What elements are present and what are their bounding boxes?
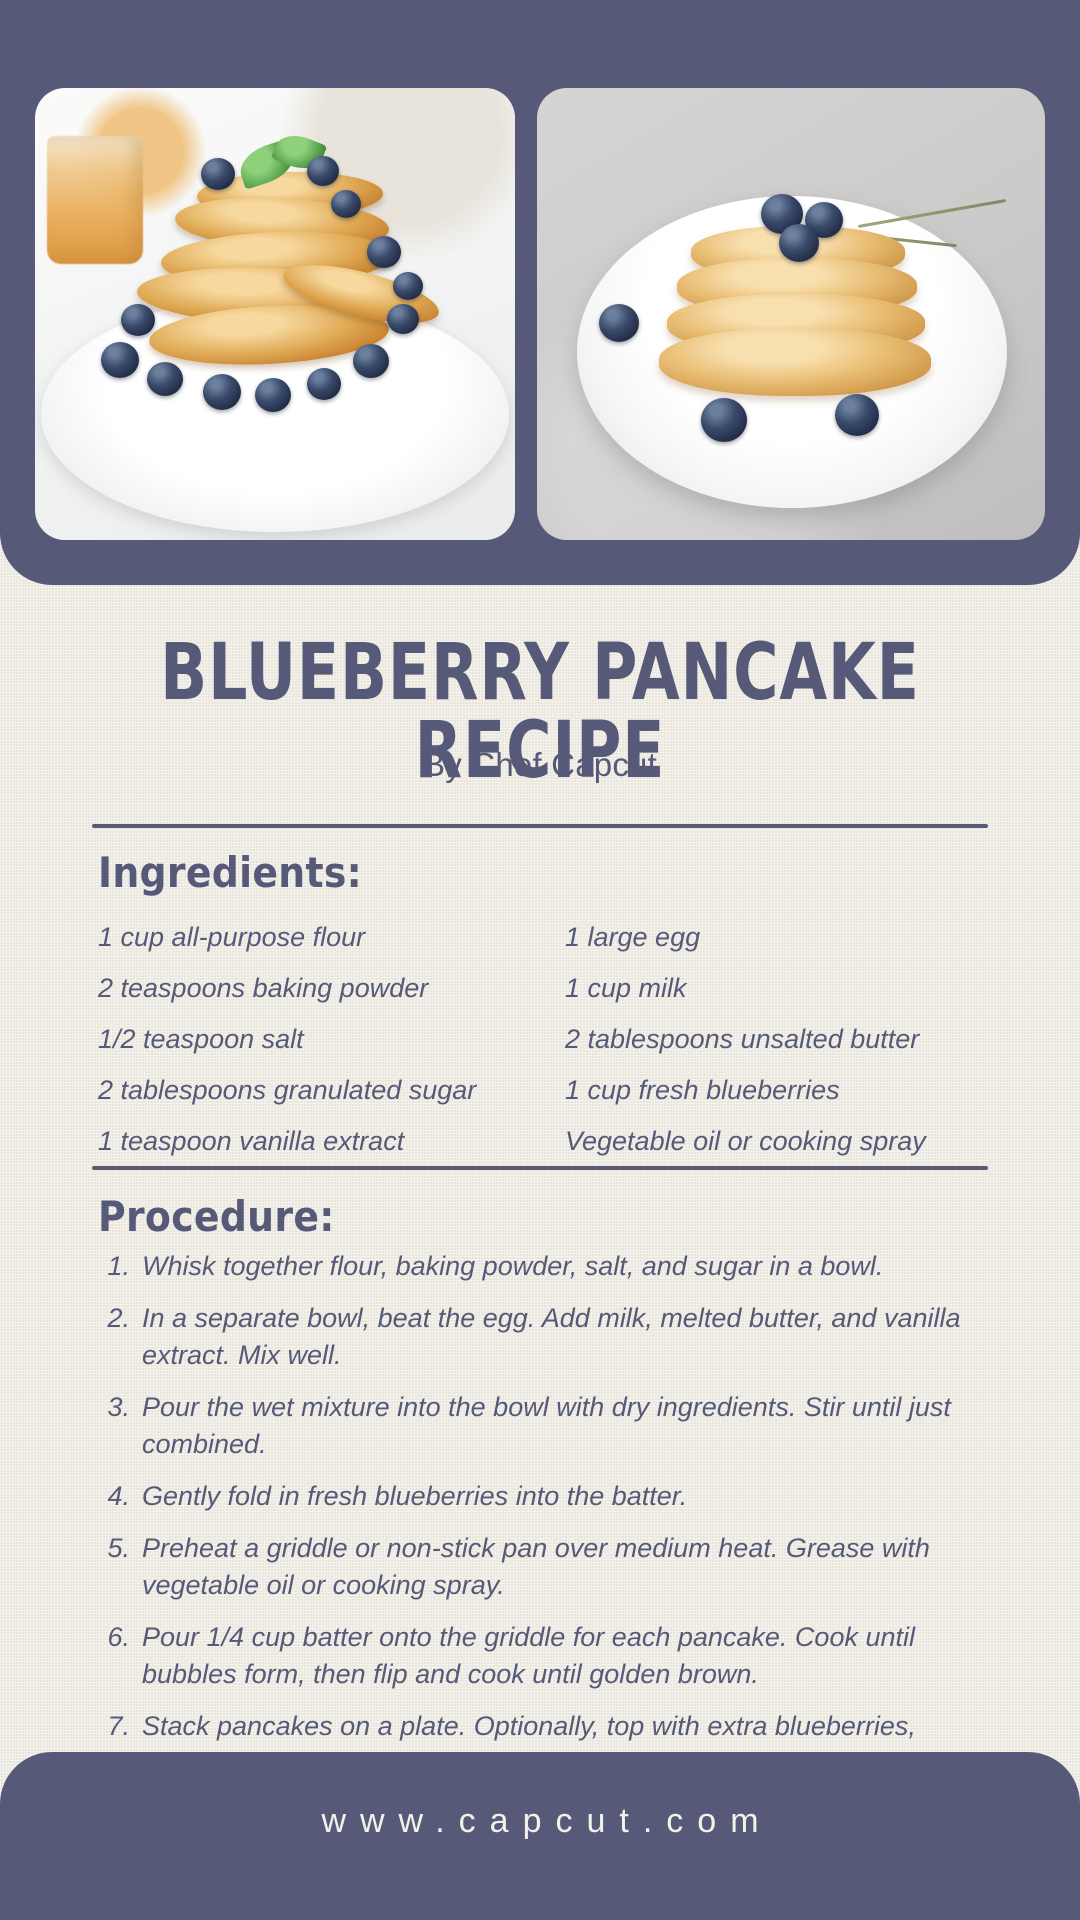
step-text: In a separate bowl, beat the egg. Add mi… bbox=[142, 1300, 962, 1374]
blueberry bbox=[307, 368, 341, 400]
procedure-step: 1. Whisk together flour, baking powder, … bbox=[98, 1248, 998, 1285]
procedure-heading: Procedure: bbox=[98, 1192, 335, 1241]
ingredient-item: 1 large egg bbox=[563, 912, 988, 963]
ingredient-item: 2 teaspoons baking powder bbox=[98, 963, 563, 1014]
ingredient-item: Vegetable oil or cooking spray bbox=[563, 1116, 988, 1167]
blueberry bbox=[101, 342, 139, 378]
blueberry bbox=[307, 156, 339, 186]
blueberry bbox=[147, 362, 183, 396]
ingredient-item: 1 cup milk bbox=[563, 963, 988, 1014]
procedure-step: 4. Gently fold in fresh blueberries into… bbox=[98, 1478, 998, 1515]
ingredients-heading: Ingredients: bbox=[98, 848, 362, 897]
procedure-step: 6. Pour 1/4 cup batter onto the griddle … bbox=[98, 1619, 998, 1693]
pancake-stack bbox=[657, 208, 937, 428]
step-text: Pour 1/4 cup batter onto the griddle for… bbox=[142, 1619, 962, 1693]
blueberry bbox=[201, 158, 235, 190]
ingredients-grid: 1 cup all-purpose flour 1 large egg 2 te… bbox=[98, 912, 988, 1167]
step-number: 1. bbox=[98, 1248, 142, 1285]
photo-row bbox=[35, 88, 1045, 540]
honey-jar bbox=[47, 136, 143, 264]
step-number: 2. bbox=[98, 1300, 142, 1374]
ingredient-item: 1/2 teaspoon salt bbox=[98, 1014, 563, 1065]
blueberry bbox=[203, 374, 241, 410]
procedure-step: 5. Preheat a griddle or non-stick pan ov… bbox=[98, 1530, 998, 1604]
blueberry bbox=[331, 190, 361, 218]
blueberry bbox=[353, 344, 389, 378]
step-number: 6. bbox=[98, 1619, 142, 1693]
blueberry bbox=[701, 398, 747, 442]
ingredient-item: 1 teaspoon vanilla extract bbox=[98, 1116, 563, 1167]
blueberry bbox=[393, 272, 423, 300]
procedure-step: 2. In a separate bowl, beat the egg. Add… bbox=[98, 1300, 998, 1374]
pancake-stack bbox=[131, 176, 427, 444]
blueberry bbox=[779, 224, 819, 262]
step-number: 5. bbox=[98, 1530, 142, 1604]
pancake-stack-with-honey-photo bbox=[35, 88, 515, 540]
procedure-step: 3. Pour the wet mixture into the bowl wi… bbox=[98, 1389, 998, 1463]
blueberry bbox=[599, 304, 639, 342]
ingredient-item: 2 tablespoons unsalted butter bbox=[563, 1014, 988, 1065]
procedure-list: 1. Whisk together flour, baking powder, … bbox=[98, 1248, 998, 1797]
blueberry bbox=[367, 236, 401, 268]
blueberry bbox=[835, 394, 879, 436]
divider-top bbox=[92, 824, 988, 828]
step-text: Pour the wet mixture into the bowl with … bbox=[142, 1389, 962, 1463]
pancake bbox=[659, 328, 931, 396]
step-text: Preheat a griddle or non-stick pan over … bbox=[142, 1530, 962, 1604]
ingredient-item: 1 cup all-purpose flour bbox=[98, 912, 563, 963]
blueberry bbox=[387, 304, 419, 334]
ingredient-item: 1 cup fresh blueberries bbox=[563, 1065, 988, 1116]
step-number: 4. bbox=[98, 1478, 142, 1515]
step-text: Gently fold in fresh blueberries into th… bbox=[142, 1478, 687, 1515]
divider-bottom bbox=[92, 1166, 988, 1170]
pancake-stack-on-plate-photo bbox=[537, 88, 1045, 540]
byline: By Chef Capcut bbox=[0, 746, 1080, 784]
step-text: Whisk together flour, baking powder, sal… bbox=[142, 1248, 883, 1285]
ingredient-item: 2 tablespoons granulated sugar bbox=[98, 1065, 563, 1116]
blueberry bbox=[121, 304, 155, 336]
recipe-poster: BLUEBERRY PANCAKE RECIPE By Chef Capcut … bbox=[0, 0, 1080, 1920]
step-number: 3. bbox=[98, 1389, 142, 1463]
website-url[interactable]: www.capcut.com bbox=[0, 1802, 1080, 1841]
blueberry bbox=[255, 378, 291, 412]
